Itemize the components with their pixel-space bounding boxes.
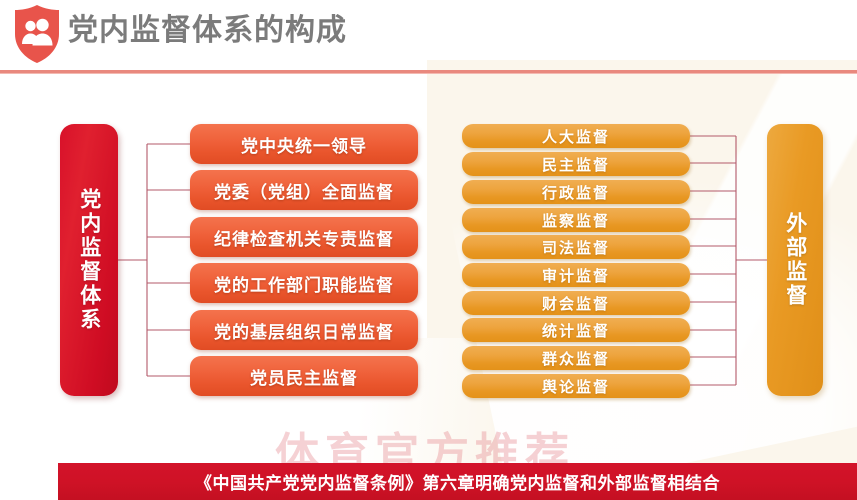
node-outer-item-2-label: 民主监督 bbox=[542, 154, 610, 175]
node-outer-item-4-label: 监察监督 bbox=[542, 210, 610, 231]
connector-lines bbox=[0, 0, 857, 500]
node-inner-item-1[interactable]: 党中央统一领导 bbox=[190, 124, 418, 164]
node-outer-item-1-label: 人大监督 bbox=[542, 126, 610, 147]
footer-caption: 《中国共产党党内监督条例》第六章明确党内监督和外部监督相结合 bbox=[195, 469, 720, 494]
node-inner-item-3[interactable]: 纪律检查机关专责监督 bbox=[190, 217, 418, 257]
node-outer-item-10[interactable]: 舆论监督 bbox=[462, 374, 690, 398]
header-divider-light bbox=[0, 73, 857, 74]
node-inner-item-3-label: 纪律检查机关专责监督 bbox=[214, 225, 394, 250]
node-outer-item-8-label: 统计监督 bbox=[542, 320, 610, 341]
node-inner-item-6[interactable]: 党员民主监督 bbox=[190, 356, 418, 396]
node-outer-item-1[interactable]: 人大监督 bbox=[462, 124, 690, 148]
node-outer-item-5-label: 司法监督 bbox=[542, 237, 610, 258]
slide-header: 党内监督体系的构成 bbox=[0, 0, 857, 72]
node-outer-item-3[interactable]: 行政监督 bbox=[462, 180, 690, 204]
node-outer-item-5[interactable]: 司法监督 bbox=[462, 235, 690, 259]
node-external-supervision[interactable]: 外部监督 bbox=[767, 124, 823, 396]
node-outer-item-6[interactable]: 审计监督 bbox=[462, 263, 690, 287]
node-inner-item-2[interactable]: 党委（党组）全面监督 bbox=[190, 170, 418, 210]
node-inner-item-5[interactable]: 党的基层组织日常监督 bbox=[190, 310, 418, 350]
page-title: 党内监督体系的构成 bbox=[68, 11, 347, 51]
node-outer-item-7[interactable]: 财会监督 bbox=[462, 291, 690, 315]
shield-people-icon bbox=[12, 4, 62, 64]
node-outer-item-4[interactable]: 监察监督 bbox=[462, 208, 690, 232]
node-inner-item-6-label: 党员民主监督 bbox=[250, 364, 358, 389]
node-outer-item-9-label: 群众监督 bbox=[542, 348, 610, 369]
node-inner-item-4[interactable]: 党的工作部门职能监督 bbox=[190, 263, 418, 303]
node-inner-item-2-label: 党委（党组）全面监督 bbox=[214, 178, 394, 203]
node-inner-supervision-system[interactable]: 党内监督体系 bbox=[60, 124, 118, 396]
node-outer-item-6-label: 审计监督 bbox=[542, 265, 610, 286]
node-outer-item-10-label: 舆论监督 bbox=[542, 376, 610, 397]
node-outer-item-8[interactable]: 统计监督 bbox=[462, 318, 690, 342]
node-outer-item-7-label: 财会监督 bbox=[542, 293, 610, 314]
node-external-supervision-label: 外部监督 bbox=[782, 212, 808, 308]
footer-banner: 《中国共产党党内监督条例》第六章明确党内监督和外部监督相结合 bbox=[58, 463, 857, 500]
node-outer-item-2[interactable]: 民主监督 bbox=[462, 152, 690, 176]
node-inner-item-1-label: 党中央统一领导 bbox=[241, 132, 367, 157]
node-inner-item-5-label: 党的基层组织日常监督 bbox=[214, 318, 394, 343]
background-cream-band bbox=[0, 338, 857, 468]
node-outer-item-3-label: 行政监督 bbox=[542, 182, 610, 203]
node-inner-item-4-label: 党的工作部门职能监督 bbox=[214, 271, 394, 296]
node-inner-supervision-system-label: 党内监督体系 bbox=[76, 188, 102, 332]
node-outer-item-9[interactable]: 群众监督 bbox=[462, 346, 690, 370]
slide-canvas: 党内监督体系的构成 bbox=[0, 0, 857, 500]
